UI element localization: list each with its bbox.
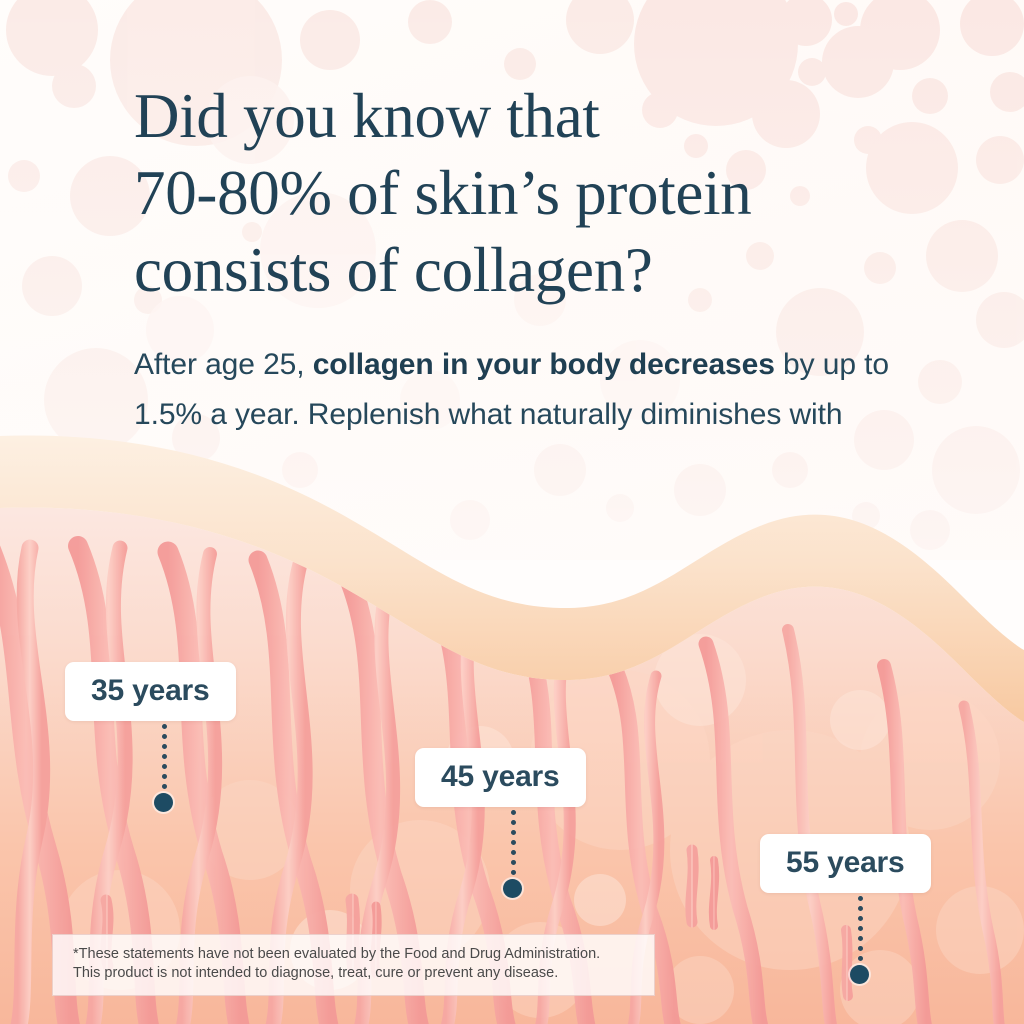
age-marker-label-35[interactable]: 35 years bbox=[65, 662, 236, 721]
age-marker-dot-35[interactable] bbox=[154, 793, 173, 812]
age-marker-dot-55[interactable] bbox=[850, 965, 869, 984]
fda-disclaimer: *These statements have not been evaluate… bbox=[52, 934, 655, 996]
body-bold-phrase: collagen in your body decreases bbox=[313, 348, 775, 381]
age-marker-dot-45[interactable] bbox=[503, 879, 522, 898]
age-marker-leader-line-55 bbox=[858, 896, 863, 971]
body-part-1: After age 25, bbox=[134, 348, 313, 381]
age-marker-leader-line-35 bbox=[162, 724, 167, 799]
infographic-canvas: Did you know that 70-80% of skin’s prote… bbox=[0, 0, 1024, 1024]
age-marker-label-45[interactable]: 45 years bbox=[415, 748, 586, 807]
age-marker-label-55[interactable]: 55 years bbox=[760, 834, 931, 893]
page-title: Did you know that 70-80% of skin’s prote… bbox=[134, 78, 934, 309]
age-marker-leader-line-45 bbox=[511, 810, 516, 885]
